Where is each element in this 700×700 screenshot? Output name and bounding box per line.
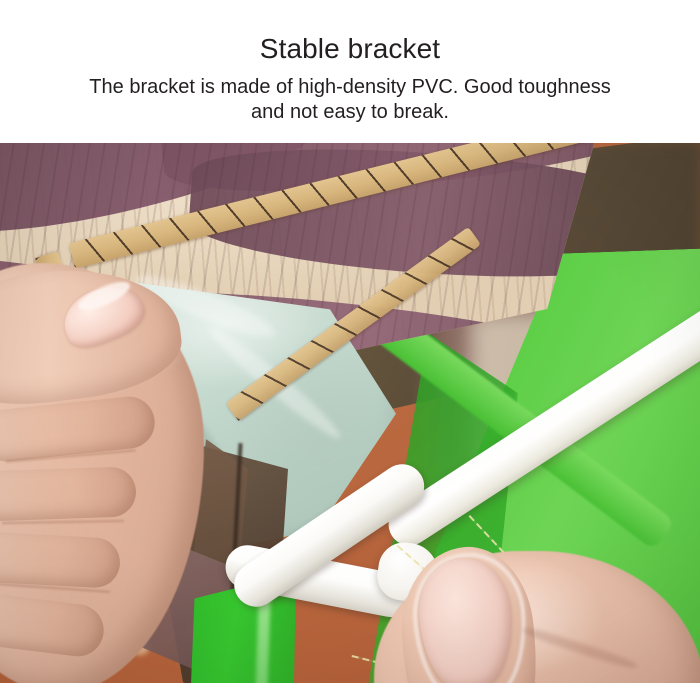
product-photo xyxy=(0,143,700,683)
header-text-block: Stable bracket The bracket is made of hi… xyxy=(0,0,700,143)
subtitle-line-2: and not easy to break. xyxy=(20,100,680,125)
page-subtitle: The bracket is made of high-density PVC.… xyxy=(20,75,680,125)
left-hand-finger xyxy=(0,466,137,522)
left-hand-finger xyxy=(0,531,121,589)
footer-white-band xyxy=(0,683,700,700)
page-title: Stable bracket xyxy=(260,32,440,66)
product-feature-card: Stable bracket The bracket is made of hi… xyxy=(0,0,700,700)
subtitle-line-1: The bracket is made of high-density PVC.… xyxy=(89,76,610,98)
